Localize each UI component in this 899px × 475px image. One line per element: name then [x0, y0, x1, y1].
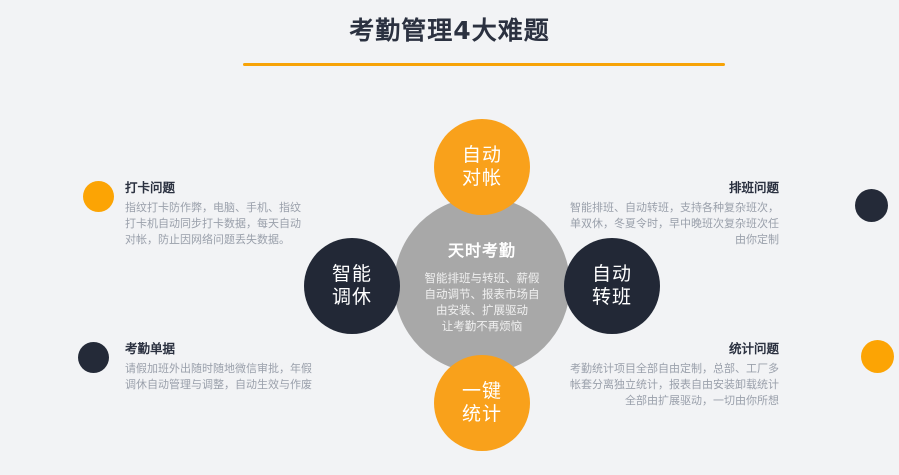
node-circle-auto-shift[interactable]: 自动 转班: [564, 238, 660, 334]
center-body-line-4: 让考勤不再烦恼: [407, 318, 557, 334]
info-block-attendance-forms: 考勤单据 请假加班外出随时随地微信审批，年假调休自动管理与调整，自动生效与作废: [125, 341, 320, 393]
venn-cluster: 天时考勤 智能排班与转班、薪假 自动调节、报表市场自 由安装、扩展驱动 让考勤不…: [290, 105, 680, 465]
node-left-line-2: 调休: [332, 286, 372, 309]
page-title-container: 考勤管理4大难题: [0, 14, 899, 48]
info-heading-scheduling-problem: 排班问题: [569, 180, 779, 196]
bullet-dot-icon-bottom-right: [861, 340, 894, 373]
info-body-attendance-forms: 请假加班外出随时随地微信审批，年假调休自动管理与调整，自动生效与作废: [125, 361, 320, 393]
page-title: 考勤管理4大难题: [0, 14, 899, 48]
node-circle-smart-leave[interactable]: 智能 调休: [304, 238, 400, 334]
center-circle-body: 智能排班与转班、薪假 自动调节、报表市场自 由安装、扩展驱动 让考勤不再烦恼: [407, 270, 557, 334]
node-circle-one-key-stats[interactable]: 一键 统计: [434, 355, 530, 451]
bullet-dot-icon-top-right: [855, 189, 888, 222]
title-underline-divider: [243, 63, 725, 66]
node-right-line-2: 转班: [592, 286, 632, 309]
node-bottom-line-1: 一键: [462, 380, 502, 403]
info-body-punch-problem: 指纹打卡防作弊，电脑、手机、指纹打卡机自动同步打卡数据，每天自动对帐，防止因网络…: [125, 200, 310, 248]
info-block-punch-problem: 打卡问题 指纹打卡防作弊，电脑、手机、指纹打卡机自动同步打卡数据，每天自动对帐，…: [125, 180, 310, 248]
node-right-line-1: 自动: [592, 263, 632, 286]
center-body-line-2: 自动调节、报表市场自: [407, 286, 557, 302]
node-top-line-2: 对帐: [462, 167, 502, 190]
info-heading-punch-problem: 打卡问题: [125, 180, 310, 196]
node-top-line-1: 自动: [462, 144, 502, 167]
center-circle: 天时考勤 智能排班与转班、薪假 自动调节、报表市场自 由安装、扩展驱动 让考勤不…: [394, 197, 570, 373]
node-left-line-1: 智能: [332, 263, 372, 286]
info-block-statistics-problem: 统计问题 考勤统计项目全部自由定制，总部、工厂多帐套分离独立统计，报表自由安装卸…: [564, 341, 779, 409]
info-body-statistics-problem: 考勤统计项目全部自由定制，总部、工厂多帐套分离独立统计，报表自由安装卸载统计全部…: [564, 361, 779, 409]
info-heading-statistics-problem: 统计问题: [564, 341, 779, 357]
node-circle-auto-reconcile[interactable]: 自动 对帐: [434, 119, 530, 215]
info-block-scheduling-problem: 排班问题 智能排班、自动转班，支持各种复杂班次，单双休，冬夏令时，早中晚班次复杂…: [569, 180, 779, 248]
node-bottom-line-2: 统计: [462, 403, 502, 426]
bullet-dot-icon-bottom-left: [78, 342, 109, 373]
info-heading-attendance-forms: 考勤单据: [125, 341, 320, 357]
center-body-line-3: 由安装、扩展驱动: [407, 302, 557, 318]
bullet-dot-icon-top-left: [83, 181, 114, 212]
center-body-line-1: 智能排班与转班、薪假: [407, 270, 557, 286]
center-circle-title: 天时考勤: [448, 237, 516, 261]
